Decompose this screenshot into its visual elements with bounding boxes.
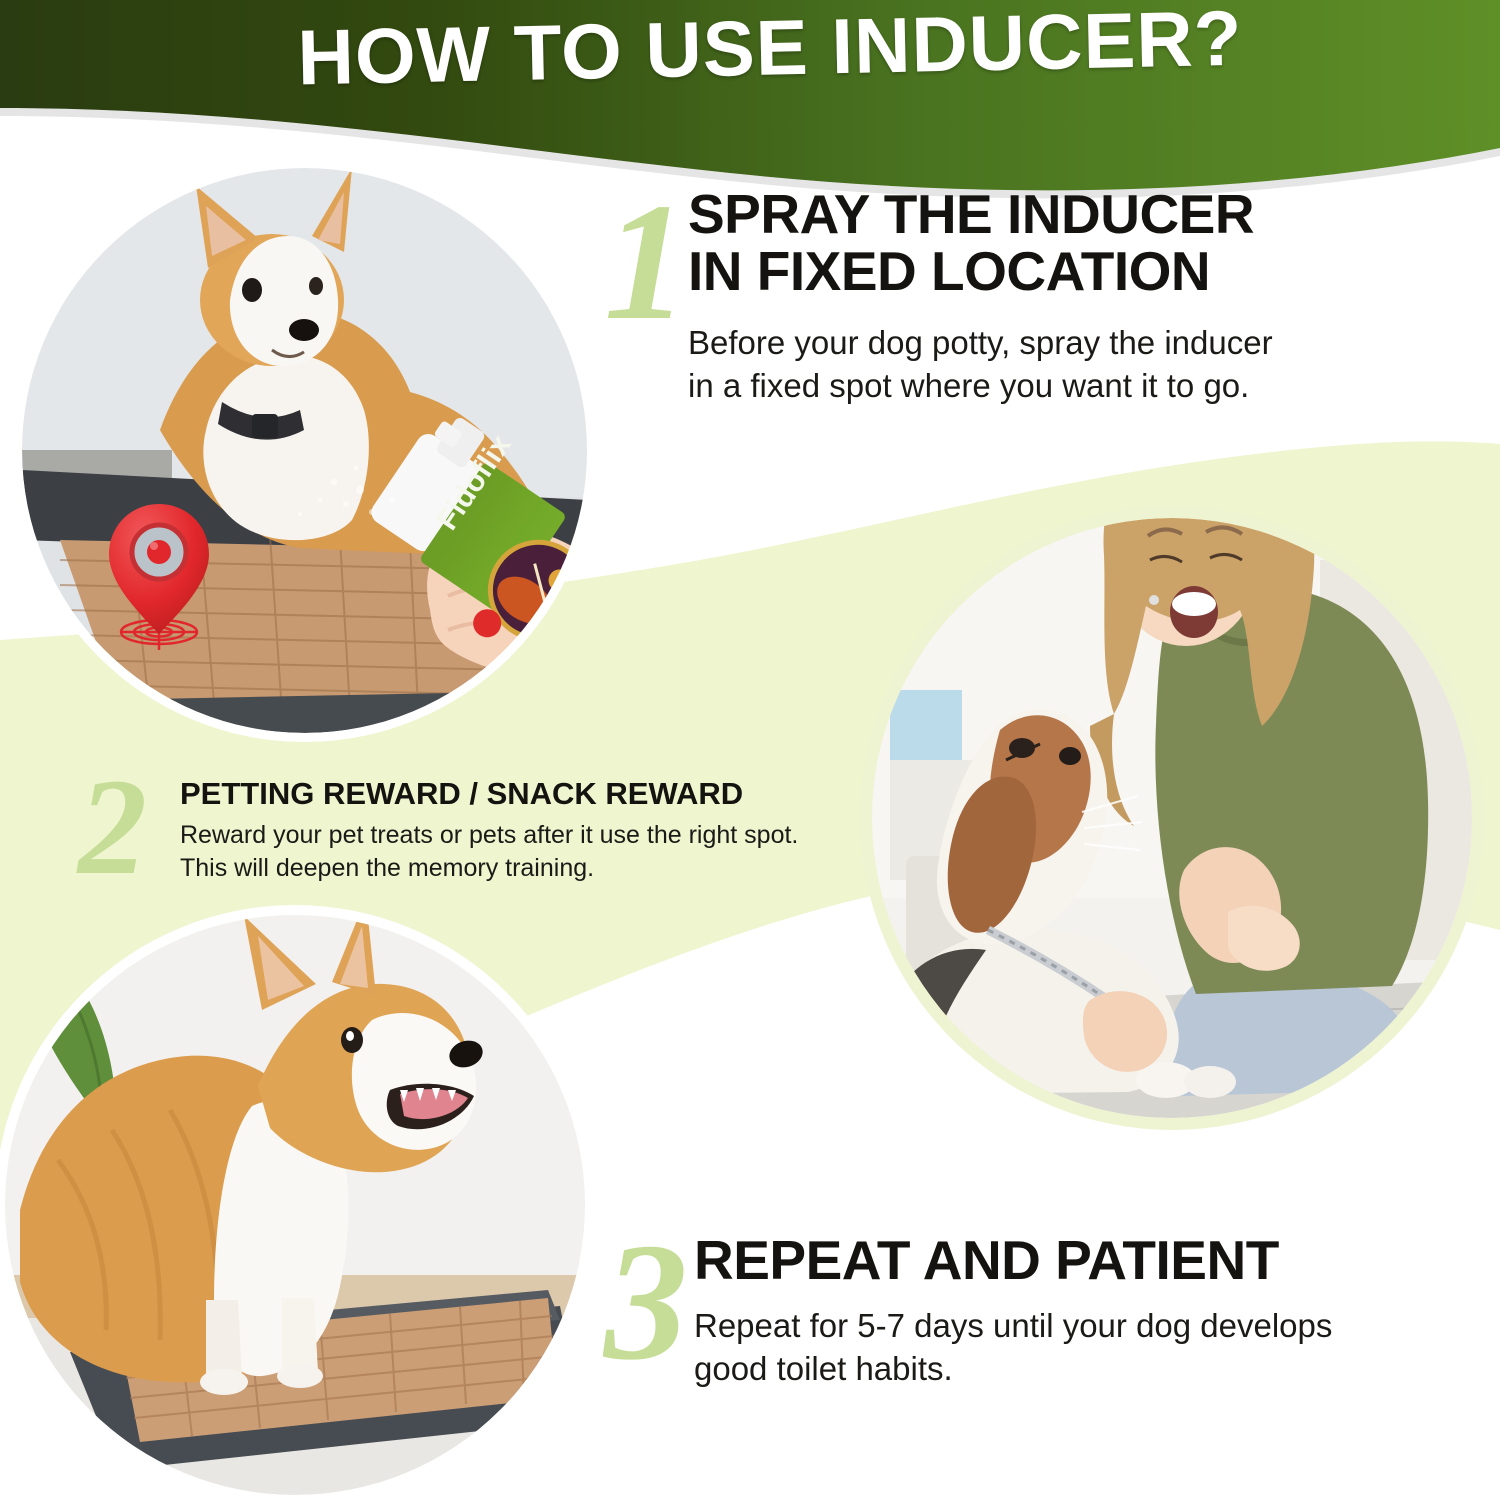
location-pin-icon xyxy=(92,498,227,658)
step-3-body: Repeat for 5-7 days until your dog devel… xyxy=(694,1305,1454,1391)
step-3-body-line-1: Repeat for 5-7 days until your dog devel… xyxy=(694,1305,1454,1348)
step-1-text-block: SPRAY THE INDUCER IN FIXED LOCATION Befo… xyxy=(688,186,1388,408)
step-2-title: PETTING REWARD / SNACK REWARD xyxy=(180,778,830,810)
step-1-numeral: 1 xyxy=(604,178,688,346)
step-1-body-line-1: Before your dog potty, spray the inducer xyxy=(688,322,1388,365)
step-2-title-line-1: PETTING REWARD / SNACK REWARD xyxy=(180,778,830,810)
step-2-body-line-2: This will deepen the memory training. xyxy=(180,852,830,885)
page-title: HOW TO USE INDUCER? xyxy=(0,0,1500,106)
step-3-numeral: 3 xyxy=(604,1218,688,1386)
step-1-title: SPRAY THE INDUCER IN FIXED LOCATION xyxy=(688,186,1388,300)
step-3-body-line-2: good toilet habits. xyxy=(694,1348,1454,1391)
step-3-title-line-1: REPEAT AND PATIENT xyxy=(694,1232,1454,1289)
step-2-photo xyxy=(872,518,1472,1118)
step-1-title-line-1: SPRAY THE INDUCER xyxy=(688,186,1388,243)
step-2-body-line-1: Reward your pet treats or pets after it … xyxy=(180,819,830,852)
step-1-title-line-2: IN FIXED LOCATION xyxy=(688,243,1388,300)
step-3-photo xyxy=(5,915,585,1495)
step-1-body-line-2: in a fixed spot where you want it to go. xyxy=(688,365,1388,408)
step-1-body: Before your dog potty, spray the inducer… xyxy=(688,322,1388,408)
header: HOW TO USE INDUCER? xyxy=(0,0,1500,200)
infographic-page: Fidoflix xyxy=(0,0,1500,1500)
step-2-text-block: PETTING REWARD / SNACK REWARD Reward you… xyxy=(180,778,830,884)
step-2-numeral: 2 xyxy=(78,758,147,896)
step-3-title: REPEAT AND PATIENT xyxy=(694,1232,1454,1289)
step-3-text-block: REPEAT AND PATIENT Repeat for 5-7 days u… xyxy=(694,1232,1454,1391)
step-2-body: Reward your pet treats or pets after it … xyxy=(180,819,830,884)
